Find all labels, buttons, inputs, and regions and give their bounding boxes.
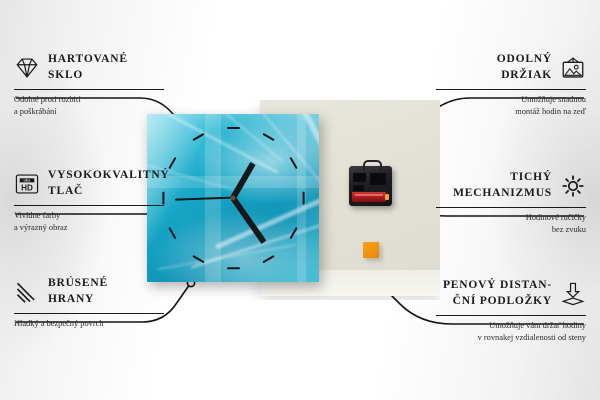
- feature-title-line1: BRÚSENÉ: [48, 276, 108, 292]
- svg-text:ultra: ultra: [24, 179, 31, 183]
- feature-desc-line2: a výrazný obraz: [14, 222, 164, 235]
- clock-tick: [302, 191, 304, 204]
- feature-title-line2: TLAČ: [48, 184, 170, 200]
- mechanism-detail: [370, 173, 386, 185]
- svg-text:HD: HD: [21, 183, 33, 192]
- feature-desc-line2: montáž hodin na zeď: [436, 106, 586, 119]
- feature-title-line2: DRŽIAK: [497, 68, 552, 84]
- feature-desc-line1: Hladký a bezpečný povrch: [14, 318, 164, 331]
- ultra-hd-icon: ultra HD: [14, 171, 40, 197]
- clock-tick: [227, 127, 240, 129]
- gear-icon: [560, 173, 586, 199]
- feature-desc-line1: Umožňuje snadnou: [436, 94, 586, 107]
- feature-desc-line1: Vivídne farby: [14, 210, 164, 223]
- feature-silent-mechanism: TICHÝ MECHANIZMUS Hodinové ručičky bez z…: [436, 170, 586, 237]
- feature-title-line1: VYSOKOKVALITNÝ: [48, 168, 170, 184]
- beveled-edges-icon: [14, 279, 40, 305]
- feature-title-line2: ČNÍ PODLOŽKY: [443, 294, 552, 310]
- feature-desc-line2: a poškrábání: [14, 106, 164, 119]
- product-photo: [135, 100, 440, 300]
- feature-title-line1: PENOVÝ DISTAN-: [443, 278, 552, 294]
- divider: [436, 315, 586, 316]
- divider: [14, 313, 164, 314]
- wall-mount-frame-icon: [560, 55, 586, 81]
- mechanism-detail: [353, 173, 366, 182]
- feature-title-line2: HRANY: [48, 292, 108, 308]
- feature-tempered-glass: HARTOVANÉ SKLO Odolné proti rozbití a po…: [14, 52, 164, 119]
- battery-label: [355, 194, 383, 196]
- feature-desc-line2: bez zvuku: [436, 224, 586, 237]
- diamond-icon: [14, 55, 40, 81]
- feature-desc-line1: Odolné proti rozbití: [14, 94, 164, 107]
- foam-spacer-icon: [560, 281, 586, 307]
- infographic-canvas: HARTOVANÉ SKLO Odolné proti rozbití a po…: [0, 0, 600, 400]
- glass-wall-clock: [147, 114, 319, 282]
- divider: [14, 89, 164, 90]
- mechanism-detail: [353, 185, 364, 191]
- battery: [352, 192, 386, 202]
- feature-title-line1: HARTOVANÉ: [48, 52, 128, 68]
- feature-high-quality-print: ultra HD VYSOKOKVALITNÝ TLAČ Vivídne far…: [14, 168, 164, 235]
- feature-durable-holder: ODOLNÝ DRŽIAK Umožňuje snadnou montáž ho…: [436, 52, 586, 119]
- feature-desc-line1: Umožňuje vám držať hodiny: [436, 320, 586, 333]
- feature-title-line2: SKLO: [48, 68, 128, 84]
- clock-tick: [227, 267, 240, 269]
- feature-title-line1: ODOLNÝ: [497, 52, 552, 68]
- feature-title-line2: MECHANIZMUS: [453, 186, 552, 202]
- divider: [436, 207, 586, 208]
- feature-foam-spacers: PENOVÝ DISTAN- ČNÍ PODLOŽKY Umožňuje vám…: [436, 278, 586, 345]
- foam-spacer-pad: [363, 242, 379, 258]
- clock-mechanism: [349, 166, 392, 206]
- divider: [436, 89, 586, 90]
- feature-desc-line2: v rovnakej vzdialenosti od steny: [436, 332, 586, 345]
- feature-desc-line1: Hodinové ručičky: [436, 212, 586, 225]
- clock-hub: [231, 196, 236, 201]
- divider: [14, 205, 164, 206]
- feature-beveled-edges: BRÚSENÉ HRANY Hladký a bezpečný povrch: [14, 276, 164, 330]
- feature-title-line1: TICHÝ: [453, 170, 552, 186]
- mechanism-hanger: [363, 160, 382, 171]
